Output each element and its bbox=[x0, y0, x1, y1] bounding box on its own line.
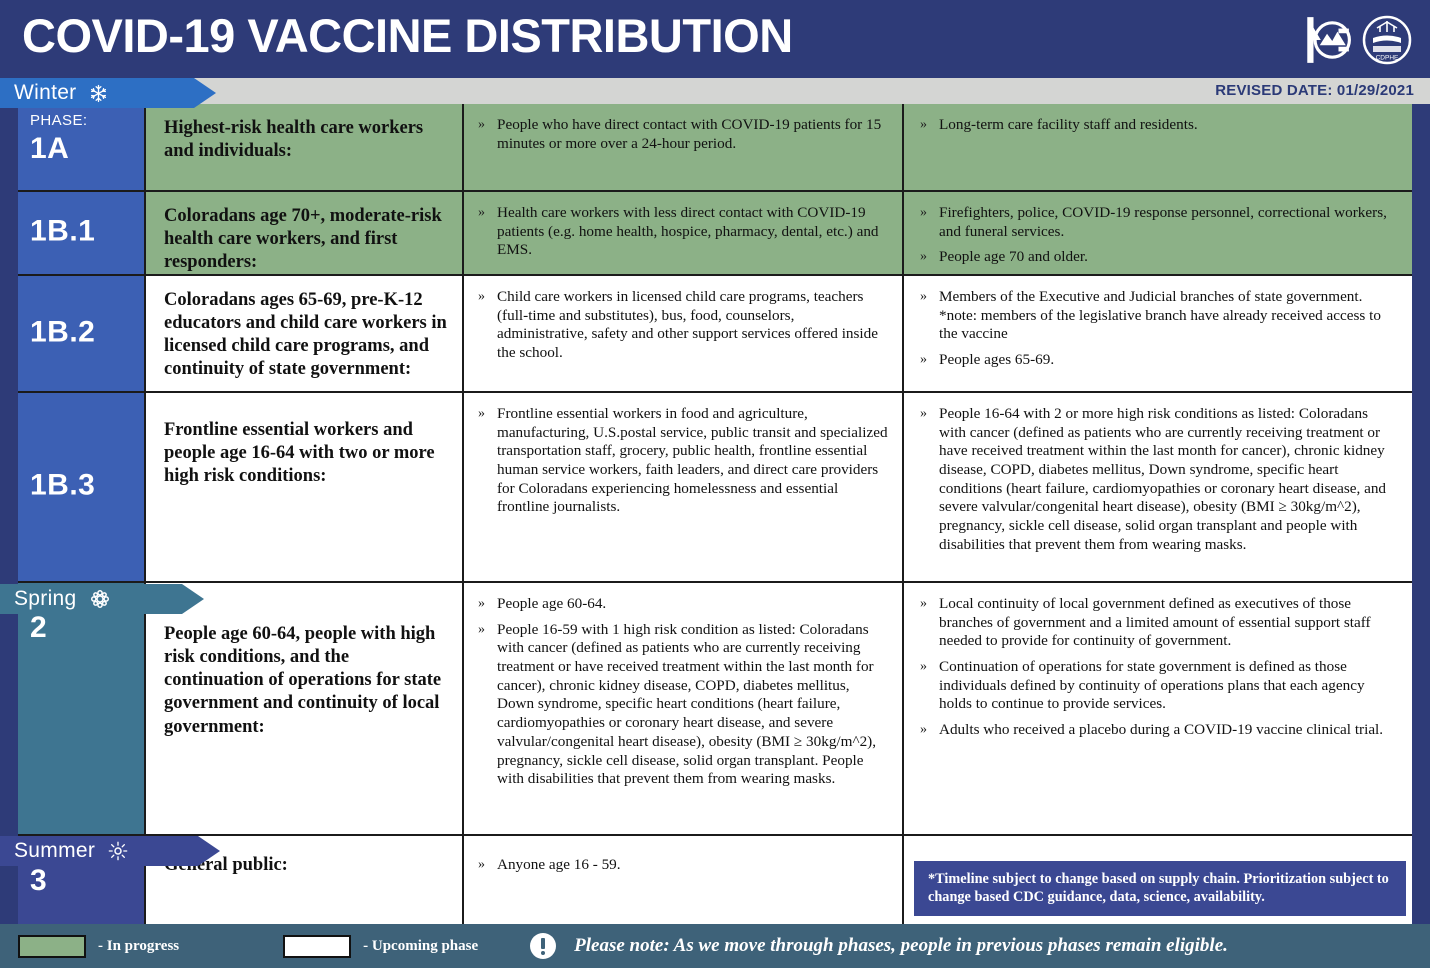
left-rail bbox=[0, 104, 18, 918]
list-item: Continuation of operations for state gov… bbox=[918, 658, 1398, 714]
phase-number: 3 bbox=[30, 864, 47, 898]
snowflake-icon bbox=[89, 84, 108, 103]
list-item: People 16-64 with 2 or more high risk co… bbox=[918, 405, 1398, 555]
sun-icon bbox=[108, 841, 128, 861]
phase-group-description: Frontline essential workers and people a… bbox=[146, 393, 464, 581]
cdphe-logo: CDPHE bbox=[1362, 15, 1412, 65]
list-item: Adults who received a placebo during a C… bbox=[918, 721, 1398, 740]
table-row: PHASE:1AHighest-risk health care workers… bbox=[18, 104, 1412, 192]
phase-detail-column-right: Members of the Executive and Judicial br… bbox=[904, 276, 1412, 391]
legend-label-upcoming: - Upcoming phase bbox=[363, 938, 478, 955]
phases-table: PHASE:1AHighest-risk health care workers… bbox=[18, 104, 1412, 918]
table-row: 1B.1Coloradans age 70+, moderate-risk he… bbox=[18, 192, 1412, 276]
phase-group-description: Coloradans age 70+, moderate-risk health… bbox=[146, 192, 464, 274]
footer-note: Please note: As we move through phases, … bbox=[574, 935, 1228, 957]
phase-group-description: Coloradans ages 65-69, pre-K-12 educator… bbox=[146, 276, 464, 391]
disclaimer-box: *Timeline subject to change based on sup… bbox=[914, 861, 1406, 916]
phase-cell-1a: PHASE:1A bbox=[18, 104, 146, 190]
phase-cell-1b.2: 1B.2 bbox=[18, 276, 146, 391]
season-ribbon-summer: Summer bbox=[0, 836, 220, 866]
list-item: People age 60-64. bbox=[476, 595, 888, 614]
list-item: Child care workers in licensed child car… bbox=[476, 288, 888, 363]
phase-number: 2 bbox=[30, 611, 47, 645]
phase-number: 1B.3 bbox=[30, 468, 95, 502]
revised-bar: REVISED DATE: 01/29/2021 bbox=[0, 78, 1430, 104]
header: COVID-19 VACCINE DISTRIBUTION CDPHE bbox=[0, 0, 1430, 78]
phase-cell-1b.1: 1B.1 bbox=[18, 192, 146, 274]
list-item: People ages 65-69. bbox=[918, 351, 1398, 370]
list-item: People age 70 and older. bbox=[918, 248, 1398, 267]
colorado-c-logo bbox=[1300, 14, 1352, 66]
list-item: Members of the Executive and Judicial br… bbox=[918, 288, 1398, 344]
exclamation-icon bbox=[530, 933, 556, 959]
cdphe-logo-text: CDPHE bbox=[1376, 55, 1399, 62]
season-label-winter: Winter bbox=[14, 81, 76, 105]
list-item: Anyone age 16 - 59. bbox=[476, 856, 888, 875]
list-item: Local continuity of local government def… bbox=[918, 595, 1398, 651]
phase-detail-column-right: People 16-64 with 2 or more high risk co… bbox=[904, 393, 1412, 581]
table-row: PHASE:3General public:Anyone age 16 - 59… bbox=[18, 836, 1412, 924]
page-title: COVID-19 VACCINE DISTRIBUTION bbox=[22, 8, 793, 63]
list-item: Frontline essential workers in food and … bbox=[476, 405, 888, 517]
list-item: People who have direct contact with COVI… bbox=[476, 116, 888, 153]
phase-word: PHASE: bbox=[30, 112, 87, 129]
list-item: Firefighters, police, COVID-19 response … bbox=[918, 204, 1398, 241]
season-label-summer: Summer bbox=[14, 839, 95, 863]
phase-number: 1A bbox=[30, 132, 69, 166]
season-label-spring: Spring bbox=[14, 587, 77, 611]
legend-swatch-upcoming bbox=[283, 935, 351, 958]
phase-detail-column-left: Frontline essential workers in food and … bbox=[464, 393, 904, 581]
phase-detail-column-left: Health care workers with less direct con… bbox=[464, 192, 904, 274]
season-ribbon-spring: Spring bbox=[0, 584, 204, 614]
logo-group: CDPHE bbox=[1300, 14, 1412, 66]
infographic-page: COVID-19 VACCINE DISTRIBUTION CDPHE REVI… bbox=[0, 0, 1430, 968]
phase-cell-1b.3: 1B.3 bbox=[18, 393, 146, 581]
footer-legend: - In progress - Upcoming phase Please no… bbox=[0, 924, 1430, 968]
phase-cell-2: PHASE:2 bbox=[18, 583, 146, 834]
season-ribbon-winter: Winter bbox=[0, 78, 216, 108]
phase-group-description: People age 60-64, people with high risk … bbox=[146, 583, 464, 834]
revised-date: REVISED DATE: 01/29/2021 bbox=[1215, 82, 1414, 99]
table-row: PHASE:2People age 60-64, people with hig… bbox=[18, 583, 1412, 836]
phase-detail-column-right: Firefighters, police, COVID-19 response … bbox=[904, 192, 1412, 274]
phase-group-description: Highest-risk health care workers and ind… bbox=[146, 104, 464, 190]
flower-icon bbox=[90, 589, 110, 609]
phase-detail-column-left: Child care workers in licensed child car… bbox=[464, 276, 904, 391]
phase-detail-column-right: Local continuity of local government def… bbox=[904, 583, 1412, 834]
phase-number: 1B.2 bbox=[30, 315, 95, 349]
list-item: People 16-59 with 1 high risk condition … bbox=[476, 621, 888, 789]
phase-number: 1B.1 bbox=[30, 214, 95, 248]
table-row: 1B.2Coloradans ages 65-69, pre-K-12 educ… bbox=[18, 276, 1412, 393]
phase-detail-column-right: *Timeline subject to change based on sup… bbox=[904, 836, 1412, 924]
table-row: 1B.3Frontline essential workers and peop… bbox=[18, 393, 1412, 583]
legend-label-in-progress: - In progress bbox=[98, 938, 179, 955]
list-item-note: *note: members of the legislative branch… bbox=[939, 307, 1398, 344]
list-item: Long-term care facility staff and reside… bbox=[918, 116, 1398, 135]
phase-detail-column-left: Anyone age 16 - 59. bbox=[464, 836, 904, 924]
phase-detail-column-left: People who have direct contact with COVI… bbox=[464, 104, 904, 190]
list-item: Health care workers with less direct con… bbox=[476, 204, 888, 260]
phase-detail-column-left: People age 60-64.People 16-59 with 1 hig… bbox=[464, 583, 904, 834]
phase-detail-column-right: Long-term care facility staff and reside… bbox=[904, 104, 1412, 190]
legend-swatch-in-progress bbox=[18, 935, 86, 958]
